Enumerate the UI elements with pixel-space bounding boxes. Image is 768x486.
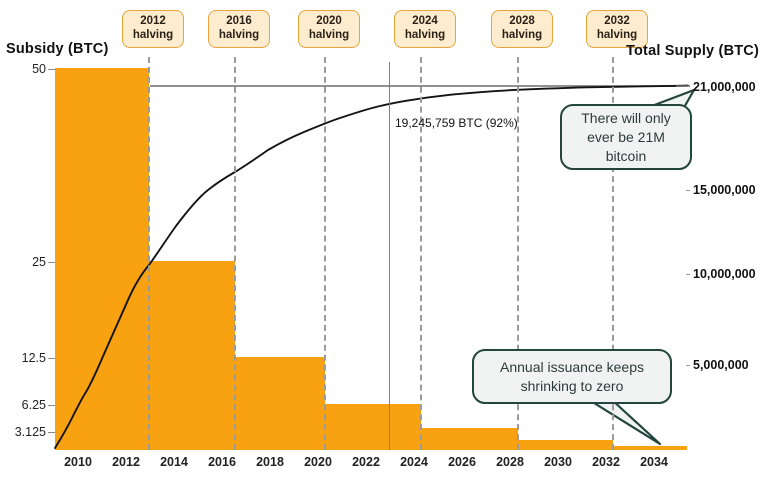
right-tick-label-10,000,000: 10,000,000 xyxy=(693,267,756,281)
issuance-callout-tail xyxy=(586,398,660,444)
halving-label-2024[interactable]: 2024halving xyxy=(394,10,456,48)
today-reference-line xyxy=(389,62,390,450)
right-tick-label-15,000,000: 15,000,000 xyxy=(693,183,756,197)
halving-label-2012[interactable]: 2012halving xyxy=(122,10,184,48)
halving-label-2016[interactable]: 2016halving xyxy=(208,10,270,48)
halving-word: halving xyxy=(395,29,455,43)
x-tick-label-2016: 2016 xyxy=(198,455,246,469)
halving-word: halving xyxy=(492,29,552,43)
halving-year: 2016 xyxy=(209,15,269,29)
x-tick-label-2012: 2012 xyxy=(102,455,150,469)
halving-word: halving xyxy=(587,29,647,43)
right-tick-label-5,000,000: 5,000,000 xyxy=(693,358,749,372)
x-tick-label-2014: 2014 xyxy=(150,455,198,469)
halving-year: 2024 xyxy=(395,15,455,29)
x-tick-label-2022: 2022 xyxy=(342,455,390,469)
right-tick-mark-15,000,000 xyxy=(686,190,690,191)
x-tick-label-2010: 2010 xyxy=(54,455,102,469)
halving-word: halving xyxy=(123,29,183,43)
left-tick-mark-12.5 xyxy=(48,358,55,359)
chart-canvas: 2012halving2016halving2020halving2024hal… xyxy=(0,0,768,486)
left-tick-label-3.125: 3.125 xyxy=(0,425,46,439)
halving-year: 2012 xyxy=(123,15,183,29)
x-tick-label-2024: 2024 xyxy=(390,455,438,469)
halving-dashed-line-2012 xyxy=(148,57,150,450)
left-tick-mark-3.125 xyxy=(48,432,55,433)
halving-word: halving xyxy=(209,29,269,43)
halving-year: 2020 xyxy=(299,15,359,29)
halving-label-2028[interactable]: 2028halving xyxy=(491,10,553,48)
x-tick-label-2026: 2026 xyxy=(438,455,486,469)
right-tick-mark-5,000,000 xyxy=(686,365,690,366)
max-supply-value-label: 21,000,000 xyxy=(693,80,756,94)
x-tick-label-2032: 2032 xyxy=(582,455,630,469)
left-tick-mark-6.25 xyxy=(48,405,55,406)
current-supply-annotation: 19,245,759 BTC (92%) xyxy=(395,116,518,130)
left-tick-label-12.5: 12.5 xyxy=(0,351,46,365)
left-axis-title: Subsidy (BTC) xyxy=(6,41,109,57)
right-tick-mark-10,000,000 xyxy=(686,274,690,275)
halving-word: halving xyxy=(299,29,359,43)
left-tick-mark-25 xyxy=(48,262,55,263)
halving-label-2020[interactable]: 2020halving xyxy=(298,10,360,48)
right-axis-title: Total Supply (BTC) xyxy=(626,43,759,59)
x-tick-label-2030: 2030 xyxy=(534,455,582,469)
x-tick-label-2018: 2018 xyxy=(246,455,294,469)
x-tick-label-2020: 2020 xyxy=(294,455,342,469)
chart-svg xyxy=(0,0,768,486)
left-tick-label-50: 50 xyxy=(0,62,46,76)
left-tick-mark-50 xyxy=(48,69,55,70)
halving-year: 2028 xyxy=(492,15,552,29)
halving-year: 2032 xyxy=(587,15,647,29)
halving-dashed-line-2020 xyxy=(324,57,326,450)
x-tick-label-2028: 2028 xyxy=(486,455,534,469)
issuance-callout-bubble: Annual issuance keeps shrinking to zero xyxy=(472,349,672,404)
max-supply-callout-bubble: There will only ever be 21M bitcoin xyxy=(560,104,692,170)
x-tick-label-2034: 2034 xyxy=(630,455,678,469)
left-tick-label-6.25: 6.25 xyxy=(0,398,46,412)
halving-dashed-line-2016 xyxy=(234,57,236,450)
left-tick-label-25: 25 xyxy=(0,255,46,269)
